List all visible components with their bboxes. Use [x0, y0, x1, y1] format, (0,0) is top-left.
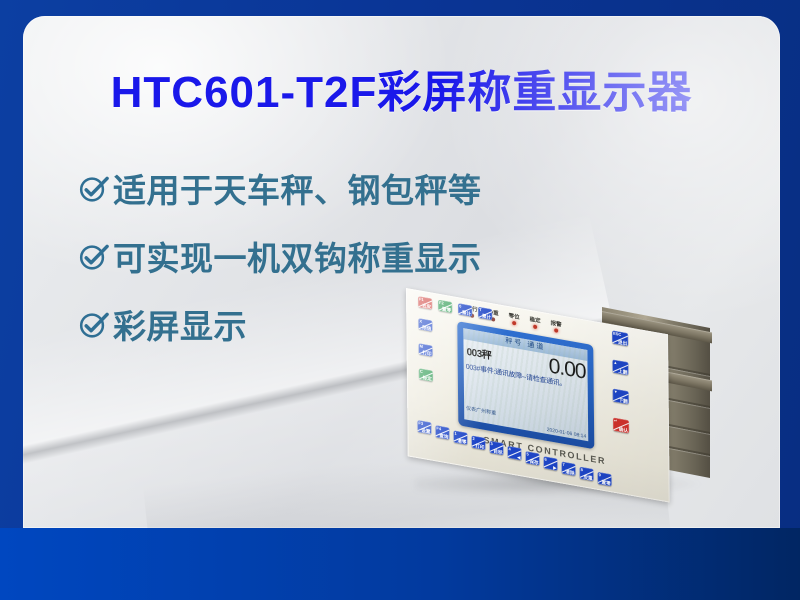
- key-6[interactable]: 6 ▶: [544, 456, 558, 470]
- key-2[interactable]: 2 打印: [471, 436, 485, 450]
- bottom-blue-band: [0, 528, 800, 600]
- lcd-bezel: 秤号 通道 003秤 0.00 003#事件:通讯故障--请检查通讯。 仪表广州…: [457, 321, 594, 449]
- key-query[interactable]: F4 查询: [435, 425, 449, 439]
- list-item-label: 适用于天车秤、钢包秤等: [113, 164, 482, 212]
- lcd-channel-label: 003秤: [466, 343, 491, 362]
- led-zero: [512, 321, 516, 326]
- check-circle-icon: [78, 309, 109, 340]
- key-zero[interactable]: F2 置零: [438, 300, 452, 313]
- lcd-footer-text: 仪表广州称重: [466, 405, 496, 417]
- key-setup[interactable]: F3 设置: [417, 420, 431, 434]
- key-exit[interactable]: ESC 退出: [612, 330, 628, 346]
- key-total[interactable]: T 累计: [478, 307, 492, 320]
- advertisement-banner: HTC601-T2F彩屏称重显示器 适用于天车秤、钢包秤等: [0, 0, 800, 600]
- led-alarm: [554, 328, 558, 333]
- lcd-screen: 秤号 通道 003秤 0.00 003#事件:通讯故障--请检查通讯。 仪表广州…: [463, 328, 588, 441]
- lcd-timestamp: 2020-01-06 08:14: [547, 427, 587, 440]
- key-page-up[interactable]: ▲ 上翻: [612, 359, 628, 375]
- key-confirm[interactable]: ↵ 确认: [613, 418, 629, 434]
- list-item-label: 可实现一机双钩称重显示: [113, 232, 482, 280]
- status-indicator-stable: 稳定: [525, 314, 545, 331]
- key-9[interactable]: 9 置零: [598, 472, 612, 486]
- status-indicator-alarm: 报警: [546, 318, 566, 335]
- status-indicator-zero: 零位: [504, 310, 524, 327]
- key-7[interactable]: 7 清除: [562, 461, 576, 475]
- key-calibrate[interactable]: C 标定: [419, 368, 433, 381]
- check-circle-icon: [78, 241, 109, 272]
- page-title: HTC601-T2F彩屏称重显示器: [23, 56, 780, 120]
- key-limit[interactable]: X 限值: [418, 318, 432, 331]
- led-stable: [533, 324, 537, 329]
- check-circle-icon: [78, 173, 109, 204]
- key-print-left[interactable]: M 打印: [419, 343, 433, 356]
- product-photo-weighing-indicator: 运行 净重 零位 稳定: [406, 288, 711, 503]
- key-page-down[interactable]: ▼ 下翻: [613, 389, 629, 405]
- key-1[interactable]: 1 清零: [453, 430, 467, 444]
- key-5[interactable]: 5 保存: [525, 451, 539, 465]
- list-item-label: 彩屏显示: [113, 300, 247, 348]
- list-item: 适用于天车秤、钢包秤等: [78, 164, 482, 212]
- key-3[interactable]: 3 目标: [489, 441, 503, 455]
- key-accumulate[interactable]: 0 累计: [458, 303, 472, 316]
- content-card: HTC601-T2F彩屏称重显示器 适用于天车秤、钢包秤等: [23, 16, 780, 528]
- key-tare[interactable]: F1 去皮: [418, 296, 432, 309]
- key-4[interactable]: 4 ◀: [507, 446, 521, 460]
- list-item: 可实现一机双钩称重显示: [78, 232, 482, 280]
- key-8[interactable]: 8 皮重: [580, 467, 594, 481]
